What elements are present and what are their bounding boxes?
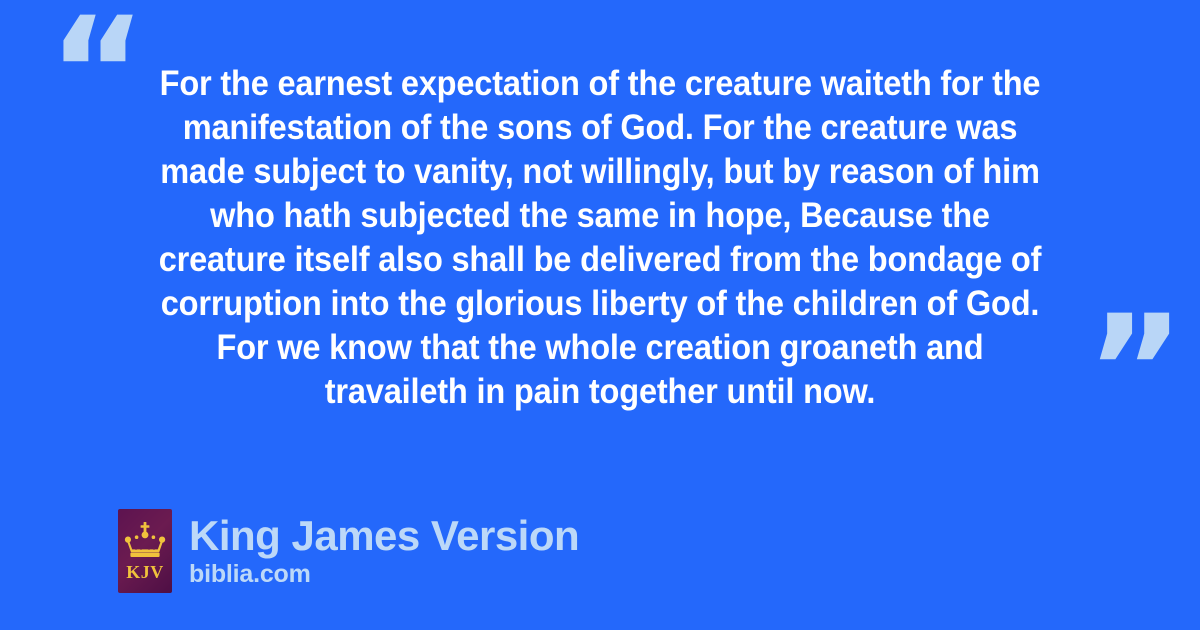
site-url-label: biblia.com [189, 559, 579, 589]
attribution-footer: KJV King James Version biblia.com [118, 509, 579, 593]
closing-quote-icon: ” [1086, 296, 1183, 446]
scripture-quote-text: For the earnest expectation of the creat… [144, 62, 1055, 414]
crown-icon [124, 521, 166, 559]
bible-version-title: King James Version [189, 514, 579, 558]
quote-card: “ For the earnest expectation of the cre… [0, 0, 1200, 630]
kjv-logo-badge: KJV [118, 509, 172, 593]
opening-quote-icon: “ [48, 0, 145, 148]
footer-text-block: King James Version biblia.com [189, 514, 579, 589]
kjv-badge-label: KJV [118, 563, 172, 581]
